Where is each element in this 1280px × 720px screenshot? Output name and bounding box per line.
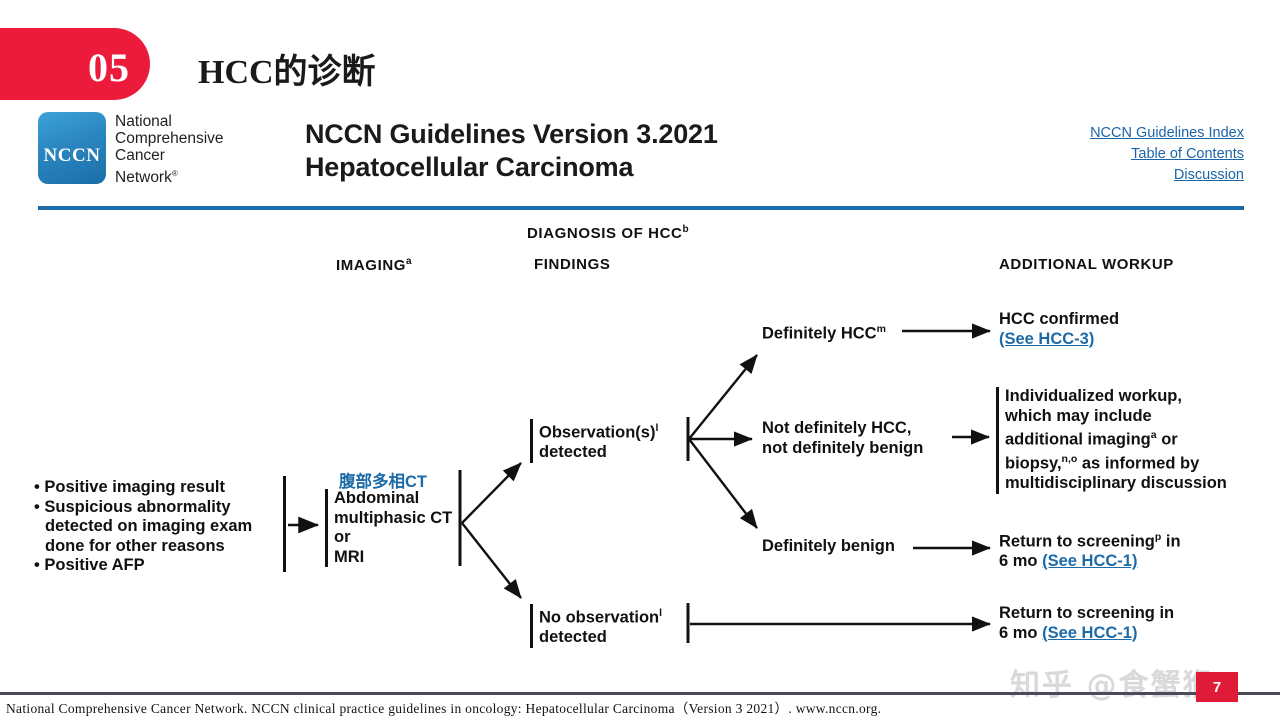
slide-root: 05 HCC的诊断 NCCN National Comprehensive Ca… xyxy=(0,0,1280,720)
flow-node-no-observation-detected: No observationl detected xyxy=(530,604,689,648)
link-see-hcc-1-a[interactable]: (See HCC-1) xyxy=(1042,552,1137,570)
no-observation-line-2: detected xyxy=(539,628,689,648)
no-observation-line-1: No observationl xyxy=(539,604,689,628)
flow-node-imaging-modality: Abdominal multiphasic CT or MRI xyxy=(325,489,459,567)
not-definitely-line-2: not definitely benign xyxy=(762,439,947,459)
flow-node-hcc-confirmed: HCC confirmed (See HCC-3) xyxy=(999,310,1199,349)
flow-node-return-screening-p: Return to screeningp in 6 mo (See HCC-1) xyxy=(999,528,1214,572)
footer-citation: National Comprehensive Cancer Network. N… xyxy=(6,697,1006,717)
individualized-line-4: biopsy,n,o as informed by xyxy=(1005,450,1245,474)
return-screening-line-2: 6 mo (See HCC-1) xyxy=(999,624,1214,644)
not-definitely-line-1: Not definitely HCC, xyxy=(762,419,947,439)
imaging-line-2: multiphasic CT xyxy=(334,509,459,529)
flow-node-individualized-workup: Individualized workup, which may include… xyxy=(996,387,1245,494)
page-number-badge: 7 xyxy=(1196,672,1238,702)
imaging-line-4: MRI xyxy=(334,548,459,568)
return-screening-p-line-1: Return to screeningp in xyxy=(999,528,1214,552)
imaging-line-3: or xyxy=(334,528,459,548)
individualized-line-2: which may include xyxy=(1005,407,1245,427)
flow-node-return-screening: Return to screening in 6 mo (See HCC-1) xyxy=(999,604,1214,643)
individualized-line-1: Individualized workup, xyxy=(1005,387,1245,407)
hcc-confirmed-text: HCC confirmed xyxy=(999,310,1199,330)
return-screening-line-1: Return to screening in xyxy=(999,604,1214,624)
link-see-hcc-1-b[interactable]: (See HCC-1) xyxy=(1042,624,1137,642)
footer-divider xyxy=(0,692,1280,695)
link-see-hcc-3[interactable]: (See HCC-3) xyxy=(999,330,1199,350)
flow-node-definitely-benign: Definitely benign xyxy=(762,537,932,557)
entry-bullet-2: • Suspicious abnormality detected on ima… xyxy=(34,498,280,557)
flow-node-entry-criteria: • Positive imaging result • Suspicious a… xyxy=(34,478,280,576)
individualized-line-5: multidisciplinary discussion xyxy=(1005,474,1245,494)
observations-line-1: Observation(s)l xyxy=(539,419,689,443)
entry-bullet-1: • Positive imaging result xyxy=(34,478,280,498)
flow-node-not-definitely-hcc: Not definitely HCC, not definitely benig… xyxy=(762,419,947,458)
flow-node-observations-detected: Observation(s)l detected xyxy=(530,419,689,463)
individualized-line-3: additional imaginga or xyxy=(1005,426,1245,450)
imaging-line-1: Abdominal xyxy=(334,489,459,509)
flow-node-definitely-hcc: Definitely HCCm xyxy=(762,320,932,344)
return-screening-p-line-2: 6 mo (See HCC-1) xyxy=(999,552,1214,572)
watermark: 知乎 @食蟹猴 xyxy=(1010,660,1214,704)
observations-line-2: detected xyxy=(539,443,689,463)
entry-group-bar xyxy=(283,476,286,572)
entry-bullet-3: • Positive AFP xyxy=(34,556,280,576)
